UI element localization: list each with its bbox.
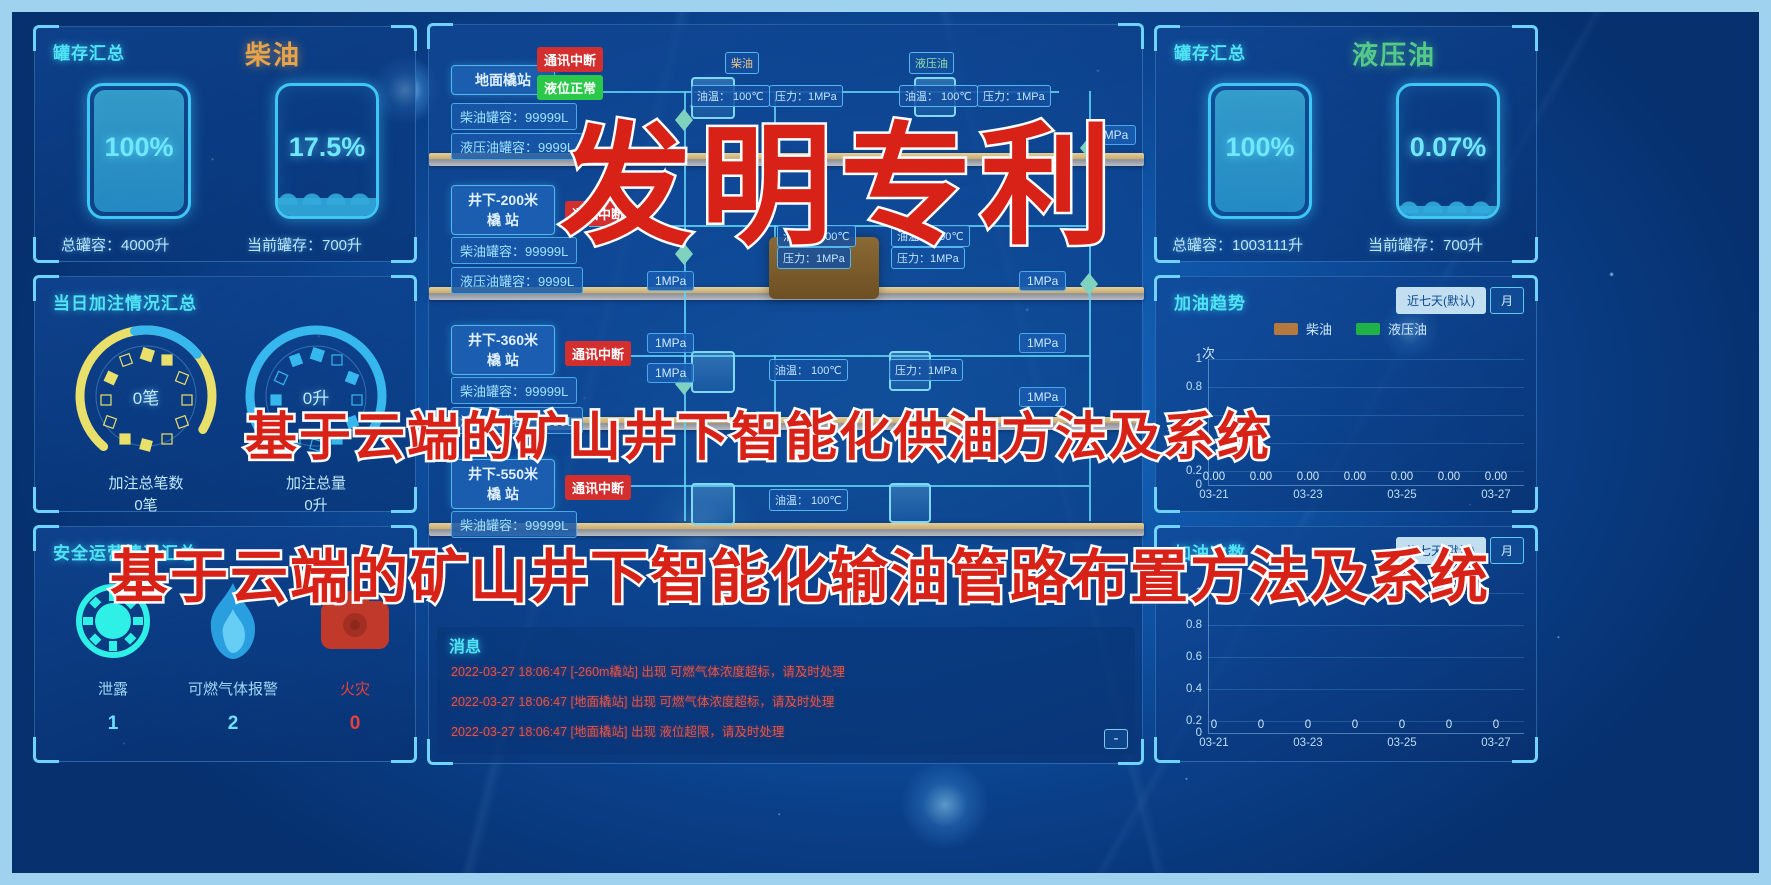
station-status-comm-surface: 通讯中断 bbox=[537, 47, 603, 72]
corner-decoration bbox=[1512, 737, 1538, 763]
safety-item-fire-count: 0 bbox=[285, 713, 425, 735]
tank-percent-total-hydraulic: 100% bbox=[1211, 132, 1309, 163]
trend-point-label: 0.00 bbox=[1427, 471, 1471, 483]
corner-decoration bbox=[1154, 487, 1180, 513]
corner-decoration bbox=[427, 739, 453, 765]
corner-decoration bbox=[1154, 737, 1180, 763]
corner-decoration bbox=[1512, 487, 1538, 513]
legend-swatch-diesel bbox=[1274, 323, 1298, 335]
count-gridline bbox=[1208, 657, 1524, 658]
glow-spot bbox=[900, 760, 990, 850]
panel-title-tank-summary-diesel: 罐存汇总 bbox=[53, 39, 125, 64]
trend-point-label: 0.00 bbox=[1380, 471, 1424, 483]
count-ytick: 0.6 bbox=[1170, 651, 1202, 663]
panel-right-tank-summary: 罐存汇总 液压油 100% 0.07% 总罐容：1003111升 当前罐存：70… bbox=[1155, 26, 1537, 262]
corner-decoration bbox=[1512, 275, 1538, 301]
tank-percent-current-hydraulic: 0.07% bbox=[1399, 132, 1497, 163]
trend-xtick: 03-23 bbox=[1286, 489, 1330, 501]
trend-xaxis bbox=[1208, 485, 1524, 486]
trend-point-label: 0.00 bbox=[1239, 471, 1283, 483]
tank-gauge-total-diesel: 100% bbox=[87, 83, 191, 219]
gauge-refill-count: 0笔 bbox=[71, 321, 221, 471]
corner-decoration bbox=[33, 275, 59, 301]
gauge-refill-count-label-sub: 0笔 bbox=[134, 497, 157, 514]
message-log-title: 消息 bbox=[449, 633, 481, 657]
corner-decoration bbox=[1118, 23, 1144, 49]
station-status-comm-360m: 通讯中断 bbox=[565, 341, 631, 366]
count-xaxis bbox=[1208, 733, 1524, 734]
corner-decoration bbox=[1512, 25, 1538, 51]
pressure-tag: 1MPa bbox=[1019, 271, 1066, 291]
count-yaxis bbox=[1208, 593, 1209, 733]
corner-decoration bbox=[33, 487, 59, 513]
count-point-label: 0 bbox=[1474, 719, 1518, 731]
trend-gridline bbox=[1208, 387, 1524, 388]
equipment-label-hydraulic: 液压油 bbox=[909, 52, 954, 74]
tank-total-caption-hydraulic: 总罐容：1003111升 bbox=[1172, 234, 1303, 255]
corner-decoration bbox=[33, 25, 59, 51]
equipment-vessel bbox=[889, 483, 931, 523]
trend-xtick: 03-21 bbox=[1192, 489, 1236, 501]
message-log-line: 2022-03-27 18:06:47 [地面橇站] 出现 可燃气体浓度超标，请… bbox=[451, 691, 834, 710]
corner-decoration bbox=[1118, 739, 1144, 765]
corner-decoration bbox=[1154, 237, 1180, 263]
count-point-label: 0 bbox=[1380, 719, 1424, 731]
count-point-label: 0 bbox=[1192, 719, 1236, 731]
trend-point-label: 0.00 bbox=[1192, 471, 1236, 483]
watermark-invention-line-1: 基于云端的矿山井下智能化供油方法及系统 bbox=[245, 395, 1271, 470]
gauge-refill-volume-label-text: 加注总量 bbox=[286, 475, 346, 492]
count-ytick: 0.4 bbox=[1170, 683, 1202, 695]
tank-gauge-current-diesel: 17.5% bbox=[275, 83, 379, 219]
gauge-refill-count-value: 0笔 bbox=[71, 321, 221, 471]
fuel-type-hydraulic: 液压油 bbox=[1352, 35, 1436, 72]
trend-xtick: 03-25 bbox=[1380, 489, 1424, 501]
corner-decoration bbox=[33, 525, 59, 551]
watermark-patent-title: 发明专利 bbox=[560, 80, 1120, 271]
pressure-tag: 1MPa bbox=[647, 271, 694, 291]
station-status-comm-550m: 通讯中断 bbox=[565, 475, 631, 500]
panel-title-refuel-trend: 加油趋势 bbox=[1174, 289, 1246, 314]
station-tag-360m[interactable]: 井下-360米 橇 站 bbox=[451, 325, 555, 375]
count-point-label: 0 bbox=[1333, 719, 1377, 731]
corner-decoration bbox=[1512, 525, 1538, 551]
station-info-diesel-surface: 柴油罐容：99999L bbox=[451, 103, 577, 130]
tank-current-caption-diesel: 当前罐存：700升 bbox=[247, 234, 362, 255]
pressure-tag: 1MPa bbox=[1019, 333, 1066, 353]
tank-gauge-total-hydraulic: 100% bbox=[1208, 83, 1312, 219]
pipe-segment bbox=[589, 485, 1089, 487]
corner-decoration bbox=[391, 487, 417, 513]
corner-decoration bbox=[33, 237, 59, 263]
corner-decoration bbox=[391, 737, 417, 763]
trend-ytick: 0.8 bbox=[1170, 381, 1202, 393]
count-point-label: 0 bbox=[1286, 719, 1330, 731]
safety-item-gas-alarm-name: 可燃气体报警 bbox=[163, 678, 303, 699]
equipment-label-diesel: 柴油 bbox=[725, 52, 759, 74]
message-log-line: 2022-03-27 18:06:47 [-260m橇站] 出现 可燃气体浓度超… bbox=[451, 661, 845, 680]
tank-current-caption-hydraulic: 当前罐存：700升 bbox=[1368, 234, 1483, 255]
safety-item-leak-count: 1 bbox=[43, 713, 183, 735]
tank-percent-current-diesel: 17.5% bbox=[278, 132, 376, 163]
tank-total-caption-diesel: 总罐容：4000升 bbox=[61, 234, 169, 255]
tank-percent-total-diesel: 100% bbox=[90, 132, 188, 163]
corner-decoration bbox=[427, 23, 453, 49]
fuel-type-diesel: 柴油 bbox=[245, 35, 301, 72]
equipment-vessel bbox=[691, 483, 735, 525]
corner-decoration bbox=[33, 737, 59, 763]
legend-label-hydraulic: 液压油 bbox=[1388, 319, 1427, 338]
count-gridline bbox=[1208, 689, 1524, 690]
corner-decoration bbox=[1154, 25, 1180, 51]
pipe-segment bbox=[589, 355, 1089, 357]
panel-daily-refill: 当日加注情况汇总 bbox=[34, 276, 416, 512]
tank-fill bbox=[278, 198, 376, 216]
tank-gauge-current-hydraulic: 0.07% bbox=[1396, 83, 1500, 219]
corner-decoration bbox=[1154, 275, 1180, 301]
sensor-temp: 油温： 100℃ bbox=[769, 359, 848, 381]
gauge-refill-count-label: 加注总笔数 0笔 bbox=[56, 473, 236, 517]
pressure-tag: 1MPa bbox=[647, 333, 694, 353]
count-ytick: 0.8 bbox=[1170, 619, 1202, 631]
message-log-line: 2022-03-27 18:06:47 [地面橇站] 出现 液位超限，请及时处理 bbox=[451, 721, 784, 740]
message-log-panel: 消息 2022-03-27 18:06:47 [-260m橇站] 出现 可燃气体… bbox=[437, 627, 1135, 755]
gauge-refill-count-label-text: 加注总笔数 bbox=[108, 475, 183, 492]
safety-item-gas-alarm-count: 2 bbox=[163, 713, 303, 735]
safety-item-leak-name: 泄露 bbox=[43, 678, 183, 699]
panel-title-daily-refill: 当日加注情况汇总 bbox=[53, 289, 197, 314]
corner-decoration bbox=[1512, 237, 1538, 263]
gauge-refill-volume-label-sub: 0升 bbox=[304, 497, 327, 514]
count-xtick: 03-21 bbox=[1192, 737, 1236, 749]
trend-ytick: 1 bbox=[1170, 353, 1202, 365]
panel-left-tank-summary: 罐存汇总 柴油 100% 17.5% 总罐容：4000升 当前罐存：700升 bbox=[34, 26, 416, 262]
trend-point-label: 0.00 bbox=[1474, 471, 1518, 483]
count-point-label: 0 bbox=[1427, 719, 1471, 731]
sensor-temp: 压力：1MPa bbox=[889, 359, 963, 381]
trend-chart-range-switch: 近七天(默认) 月 bbox=[1396, 287, 1524, 314]
watermark-invention-line-2: 基于云端的矿山井下智能化输油管路布置方法及系统 bbox=[110, 530, 1490, 614]
station-tag-200m[interactable]: 井下-200米 橇 站 bbox=[451, 185, 555, 235]
panel-refuel-trend-chart: 加油趋势 近七天(默认) 月 柴油 液压油 次 1 0.8 0.6 0.4 0.… bbox=[1155, 276, 1537, 512]
count-xtick: 03-25 bbox=[1380, 737, 1424, 749]
count-point-label: 0 bbox=[1239, 719, 1283, 731]
gauge-refill-volume-label: 加注总量 0升 bbox=[226, 473, 406, 517]
trend-point-label: 0.00 bbox=[1333, 471, 1377, 483]
dashboard-root: 罐存汇总 柴油 100% 17.5% 总罐容：4000升 当前罐存：700升 当… bbox=[0, 0, 1771, 885]
count-gridline bbox=[1208, 625, 1524, 626]
station-info-diesel-200m: 柴油罐容：99999L bbox=[451, 237, 577, 264]
legend-label-diesel: 柴油 bbox=[1306, 319, 1332, 338]
safety-item-fire-name: 火灾 bbox=[285, 678, 425, 699]
legend-swatch-hydraulic bbox=[1356, 323, 1380, 335]
trend-gridline bbox=[1208, 359, 1524, 360]
corner-decoration bbox=[391, 275, 417, 301]
corner-decoration bbox=[391, 25, 417, 51]
panel-title-tank-summary-hydraulic: 罐存汇总 bbox=[1174, 39, 1246, 64]
trend-chart-legend: 柴油 液压油 bbox=[1274, 319, 1427, 338]
tank-fill bbox=[1399, 206, 1497, 216]
corner-decoration bbox=[391, 237, 417, 263]
trend-range-week-button[interactable]: 近七天(默认) bbox=[1396, 287, 1486, 314]
count-xtick: 03-23 bbox=[1286, 737, 1330, 749]
trend-point-label: 0.00 bbox=[1286, 471, 1330, 483]
sensor-temp: 油温： 100℃ bbox=[769, 489, 848, 511]
station-info-hydraulic-200m: 液压油罐容：9999L bbox=[451, 267, 583, 294]
pressure-tag: 1MPa bbox=[647, 363, 694, 383]
equipment-vessel bbox=[691, 351, 735, 393]
